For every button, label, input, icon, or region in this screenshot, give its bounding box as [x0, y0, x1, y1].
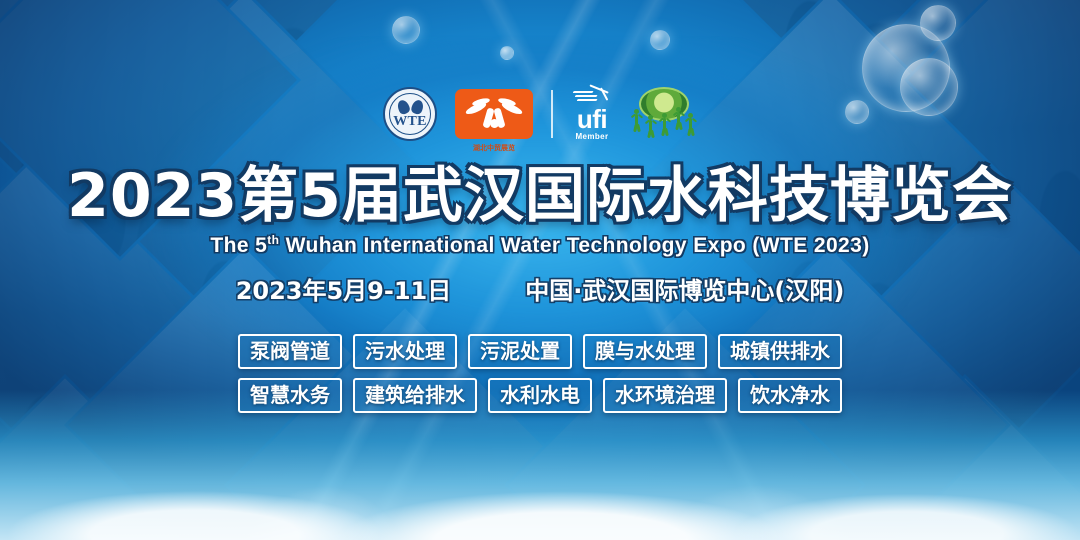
water-drop-icon — [410, 99, 425, 116]
topic-tag[interactable]: 水利水电 — [488, 378, 592, 413]
event-meta: 2023年5月9-11日 中国·武汉国际博览中心(汉阳) — [0, 279, 1080, 303]
wte-logo: WTE — [383, 87, 437, 141]
topic-tag-list: 泵阀管道 污水处理 污泥处置 膜与水处理 城镇供排水 智慧水务 建筑给排水 水利… — [0, 334, 1080, 413]
ufi-member-label: Member — [575, 133, 608, 141]
topic-tag[interactable]: 膜与水处理 — [583, 334, 707, 369]
green-association-logo — [631, 87, 697, 141]
topic-tag[interactable]: 污泥处置 — [468, 334, 572, 369]
event-subtitle: The 5th Wuhan International Water Techno… — [0, 234, 1080, 256]
subtitle-rest: Wuhan International Water Technology Exp… — [279, 234, 869, 257]
ufi-logo-label: ufi — [577, 106, 607, 132]
wing-icon — [465, 99, 523, 129]
event-date: 2023年5月9-11日 — [236, 279, 452, 303]
person-icon — [674, 107, 683, 129]
event-title: 2023第5届武汉国际水科技博览会 — [0, 166, 1080, 226]
ufi-logo: ufi Member — [571, 87, 613, 141]
person-icon — [632, 109, 641, 131]
topic-tag[interactable]: 智慧水务 — [238, 378, 342, 413]
topic-tag-row: 泵阀管道 污水处理 污泥处置 膜与水处理 城镇供排水 — [238, 334, 842, 369]
organizer-logo-subtext: 湖北中贸展览 — [455, 145, 533, 153]
topic-tag[interactable]: 泵阀管道 — [238, 334, 342, 369]
wte-logo-label: WTE — [385, 115, 435, 129]
topic-tag[interactable]: 污水处理 — [353, 334, 457, 369]
topic-tag[interactable]: 建筑给排水 — [353, 378, 477, 413]
expo-banner: WTE 湖北中贸展览 — [0, 0, 1080, 540]
topic-tag-row: 智慧水务 建筑给排水 水利水电 水环境治理 饮水净水 — [238, 378, 842, 413]
subtitle-ordinal-suffix: th — [267, 233, 279, 247]
event-venue: 中国·武汉国际博览中心(汉阳) — [525, 279, 844, 303]
water-drop-icon — [396, 98, 411, 115]
ufi-bird-icon — [571, 87, 613, 105]
organizer-logo: 湖北中贸展览 — [455, 89, 533, 139]
person-icon — [686, 113, 695, 135]
subtitle-prefix: The 5 — [210, 234, 267, 257]
logo-divider — [551, 90, 553, 138]
topic-tag[interactable]: 城镇供排水 — [718, 334, 842, 369]
topic-tag[interactable]: 饮水净水 — [738, 378, 842, 413]
person-icon — [660, 113, 669, 135]
logo-row: WTE 湖北中贸展览 — [0, 82, 1080, 146]
person-icon — [646, 115, 655, 137]
topic-tag[interactable]: 水环境治理 — [603, 378, 727, 413]
